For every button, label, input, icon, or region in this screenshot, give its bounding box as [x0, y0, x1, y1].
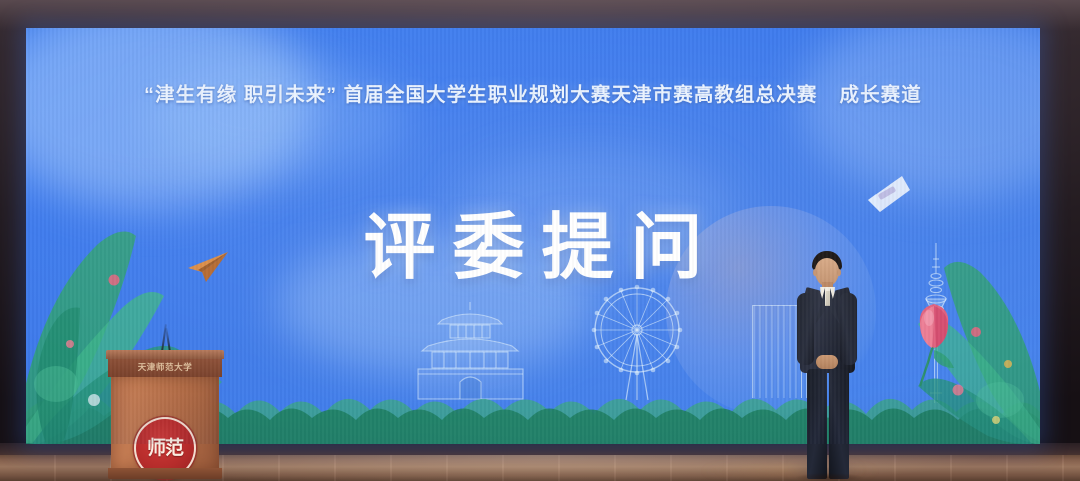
event-title-track: 成长赛道: [839, 84, 921, 106]
podium-base: [108, 468, 222, 479]
event-title-row: “津生有缘 职引未来” 首届全国大学生职业规划大赛天津市赛高教组总决赛成长赛道: [26, 84, 1040, 107]
ferris-wheel-icon: [582, 282, 692, 404]
presenter-arm-left: [797, 293, 814, 365]
event-title-main: “津生有缘 职引未来” 首届全国大学生职业规划大赛天津市赛高教组总决赛: [144, 84, 817, 106]
presenter-shadow: [795, 473, 863, 481]
pagoda-gate-icon: [398, 302, 543, 402]
presenter-hands: [816, 355, 838, 369]
podium-university-name: 天津师范大学: [108, 361, 222, 373]
podium-top-surface: [106, 350, 224, 359]
stage-scene: “津生有缘 职引未来” 首届全国大学生职业规划大赛天津市赛高教组总决赛成长赛道 …: [0, 0, 1080, 481]
cloud-wash-upper-left: [146, 58, 406, 178]
podium-body: 师范: [111, 377, 219, 469]
flying-note-icon: [866, 174, 912, 214]
cloud-wash-right: [800, 28, 1040, 198]
presenter-leg-left: [807, 369, 827, 479]
presenter-leg-right: [829, 369, 849, 479]
presenter-arm-right: [840, 293, 857, 365]
podium: 天津师范大学 师范: [106, 350, 224, 480]
headline-text: 评委提问: [346, 212, 719, 284]
event-title: “津生有缘 职引未来” 首届全国大学生职业规划大赛天津市赛高教组总决赛成长赛道: [144, 84, 922, 107]
cloud-wash-left: [26, 28, 316, 208]
headline-wrap: 评委提问: [26, 212, 1040, 284]
podium-name-band: 天津师范大学: [108, 359, 222, 377]
presenter-figure: [783, 251, 869, 481]
tulip-icon: [908, 302, 962, 388]
university-emblem-glyph: 师范: [147, 439, 183, 458]
